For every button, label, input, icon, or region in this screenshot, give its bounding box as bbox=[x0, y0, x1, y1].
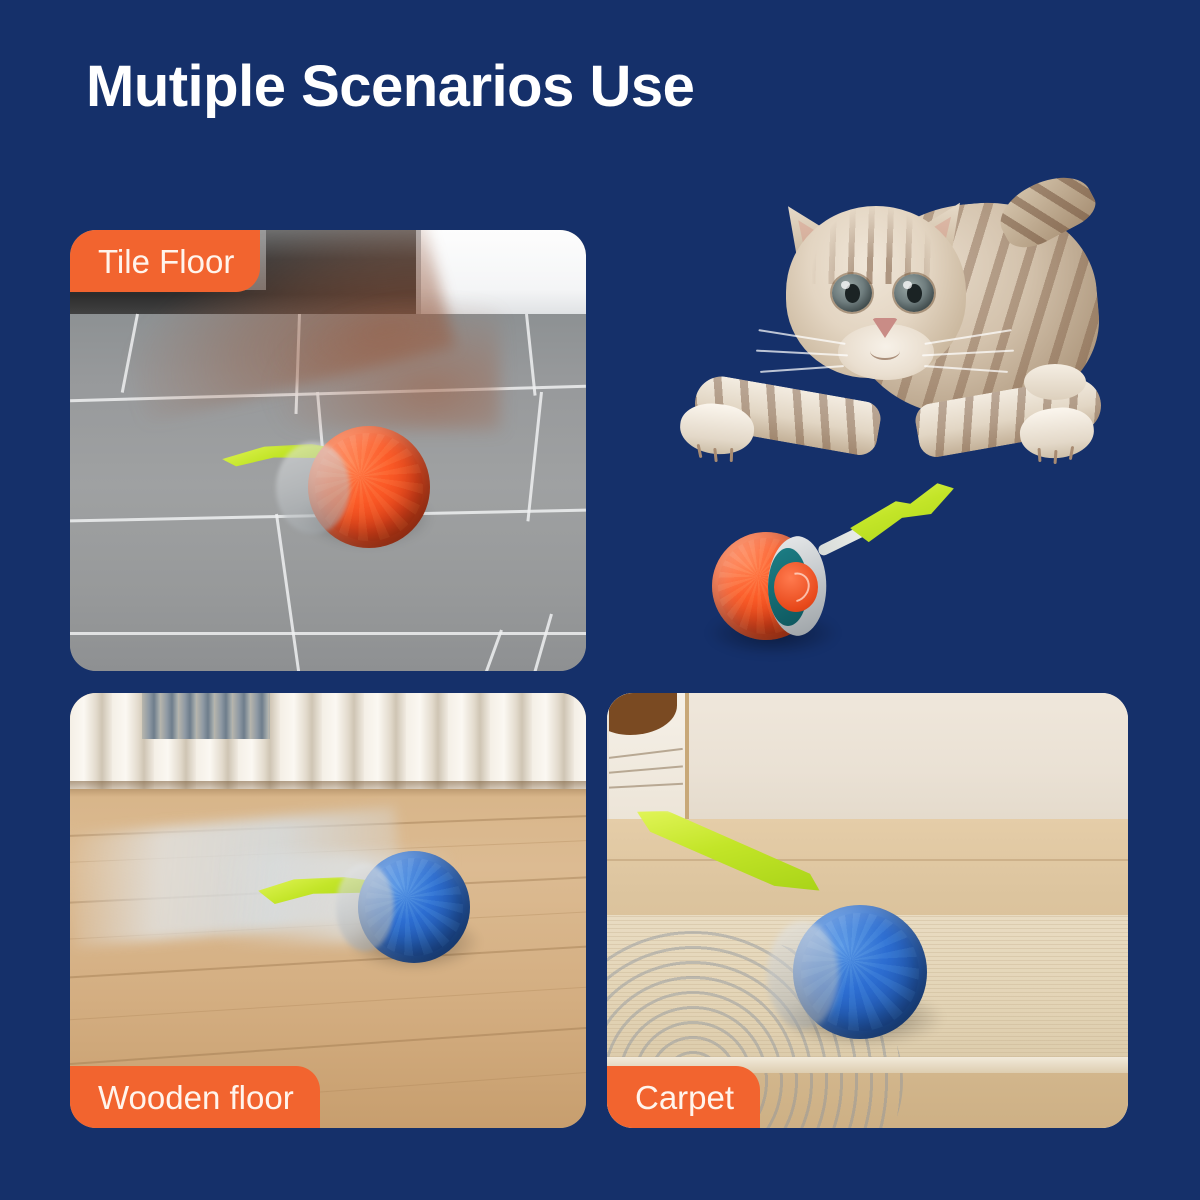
grout-line bbox=[534, 614, 553, 671]
plank-seam bbox=[70, 944, 586, 980]
hero-kitten-image bbox=[672, 176, 1102, 492]
scenario-panel-carpet[interactable]: Carpet bbox=[607, 693, 1128, 1128]
page-title: Mutiple Scenarios Use bbox=[86, 57, 694, 118]
tile-floor-photo bbox=[70, 230, 586, 671]
scenario-panel-tile[interactable]: Tile Floor bbox=[70, 230, 586, 671]
art-line bbox=[609, 748, 682, 760]
product-ball-body bbox=[712, 532, 820, 640]
badge-carpet: Carpet bbox=[607, 1066, 760, 1128]
art-line bbox=[609, 765, 683, 774]
swirl-logo-icon bbox=[776, 566, 816, 607]
grout-line bbox=[484, 629, 503, 671]
badge-label: Tile Floor bbox=[98, 245, 234, 278]
cat-eye-glint bbox=[903, 281, 912, 289]
ball-band bbox=[767, 921, 839, 1029]
ball-band bbox=[336, 863, 394, 951]
cat-eye-right bbox=[894, 274, 934, 312]
curtain bbox=[70, 693, 586, 789]
cat-toy-ball bbox=[793, 905, 927, 1039]
cat-forehead-stripes bbox=[812, 206, 940, 284]
carpet-photo bbox=[607, 693, 1128, 1128]
ball-band bbox=[276, 442, 350, 534]
feather-plume bbox=[850, 482, 954, 546]
cat-eye-glint bbox=[841, 281, 850, 289]
badge-label: Wooden floor bbox=[98, 1081, 294, 1114]
cat-claw bbox=[1054, 450, 1058, 464]
grout-line bbox=[525, 314, 537, 396]
ball-power-button[interactable] bbox=[774, 562, 818, 612]
cat-toy-ball bbox=[308, 426, 430, 548]
plank-seam bbox=[70, 1025, 586, 1067]
grout-line bbox=[70, 632, 586, 635]
poster-canvas: Mutiple Scenarios Use bbox=[0, 0, 1200, 1200]
grout-line bbox=[275, 514, 300, 671]
radiator bbox=[142, 693, 270, 739]
grout-line bbox=[526, 392, 543, 522]
wood-grain bbox=[70, 985, 586, 1022]
art-line bbox=[609, 783, 683, 789]
framed-artwork bbox=[609, 693, 689, 825]
badge-label: Carpet bbox=[635, 1081, 734, 1114]
wooden-floor-photo bbox=[70, 693, 586, 1128]
badge-wooden-floor: Wooden floor bbox=[70, 1066, 320, 1128]
cat-mouth bbox=[870, 342, 900, 360]
floor-wall-shadow bbox=[70, 781, 586, 797]
hero-product-ball bbox=[712, 490, 922, 640]
cat-toy-ball bbox=[358, 851, 470, 963]
cat-hind-paw bbox=[1024, 364, 1086, 400]
art-shape bbox=[609, 693, 677, 735]
feather-tail bbox=[816, 482, 946, 572]
badge-tile-floor: Tile Floor bbox=[70, 230, 260, 292]
cat-claw bbox=[730, 448, 733, 462]
motion-blur-trail bbox=[270, 300, 500, 430]
scenario-panel-wooden-floor[interactable]: Wooden floor bbox=[70, 693, 586, 1128]
cat-eye-left bbox=[832, 274, 872, 312]
